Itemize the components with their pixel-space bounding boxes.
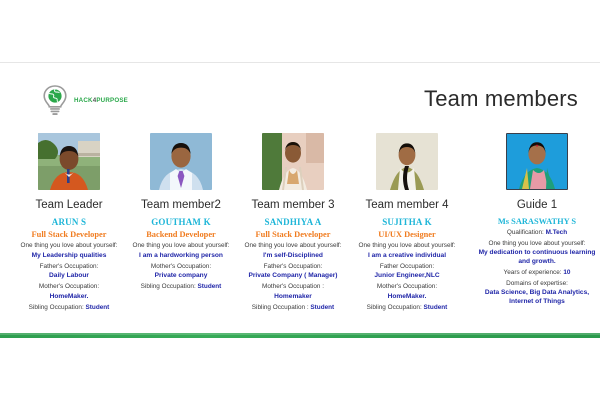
lightbulb-globe-icon: [40, 84, 70, 116]
brand-word-last: PURPOSE: [96, 97, 128, 104]
page-title: Team members: [424, 86, 578, 112]
detail-value: Data Science, Big Data Analytics, Intern…: [476, 289, 598, 307]
detail-value: M.Tech: [546, 229, 568, 236]
detail-label: Qualification:: [507, 229, 544, 236]
member-info: Ms SARASWATHY S Qualification: M.Tech On…: [476, 216, 598, 307]
detail-label: Mother's Occupation:: [359, 283, 456, 292]
detail-row: Sibling Occupation: Student: [21, 304, 118, 313]
member-answer: I am a hardworking person: [133, 252, 230, 261]
brand-wordmark: HACK4PURPOSE: [74, 97, 128, 104]
member-answer: I'm self-Disciplined: [245, 252, 342, 261]
detail-label: Mother's Occupation:: [133, 263, 230, 272]
detail-value: Private Company ( Manager): [245, 272, 342, 281]
detail-value: Private company: [133, 272, 230, 281]
member-name: Ms SARASWATHY S: [476, 216, 598, 227]
member-role: Backend Developer: [133, 229, 230, 240]
member-role: Full Stack Developer: [21, 229, 118, 240]
avatar: [506, 133, 568, 190]
member-name: SANDHIYA A: [245, 216, 342, 228]
member-answer: My dedication to continuous learning and…: [476, 249, 598, 267]
member-question: One thing you love about yourself:: [245, 242, 342, 251]
member-role-heading: Team member2: [141, 199, 221, 211]
detail-label: Sibling Occupation :: [252, 304, 309, 311]
detail-label: Mother's Occupation:: [21, 283, 118, 292]
detail-label: Father's Occupation:: [245, 263, 342, 272]
member-answer: I am a creative individual: [359, 252, 456, 261]
member-column-team-member-3: Team member 3 SANDHIYA A Full Stack Deve…: [240, 133, 346, 312]
member-name: ARUN S: [21, 216, 118, 228]
member-name: GOUTHAM K: [133, 216, 230, 228]
member-question: One thing you love about yourself:: [21, 242, 118, 251]
detail-label: Sibling Occupation:: [367, 304, 422, 311]
brand-word-first: HACK: [74, 97, 93, 104]
detail-row: Years of experience: 10: [476, 269, 598, 278]
member-column-team-member-2: Team member2 GOUTHAM K Backend Developer…: [128, 133, 234, 312]
brand-logo: HACK4PURPOSE: [40, 84, 128, 116]
member-question: One thing you love about yourself:: [476, 240, 598, 249]
member-role: Full Stack Developer: [245, 229, 342, 240]
detail-row: Sibling Occupation: Student: [359, 304, 456, 313]
slide-body: HACK4PURPOSE Team members: [0, 63, 600, 338]
detail-row: Sibling Occupation : Student: [245, 304, 342, 313]
member-info: GOUTHAM K Backend Developer One thing yo…: [133, 216, 230, 292]
detail-value: Homemaker: [245, 293, 342, 302]
detail-value: Student: [310, 304, 334, 311]
member-question: One thing you love about yourself:: [133, 242, 230, 251]
bottom-accent-bar-highlight: [0, 333, 600, 335]
team-members-row: Team Leader ARUN S Full Stack Developer …: [0, 133, 600, 312]
member-question: One thing you love about yourself:: [359, 242, 456, 251]
detail-value: Student: [198, 283, 222, 290]
member-role: UI/UX Designer: [359, 229, 456, 240]
avatar: [38, 133, 100, 190]
detail-label: Sibling Occupation:: [29, 304, 84, 311]
member-info: SUJITHA K UI/UX Designer One thing you l…: [359, 216, 456, 312]
member-role-heading: Team member 3: [251, 199, 334, 211]
member-column-team-member-4: Team member 4 SUJITHA K UI/UX Designer O…: [354, 133, 460, 312]
member-info: SANDHIYA A Full Stack Developer One thin…: [245, 216, 342, 312]
member-column-guide-1: Guide 1 Ms SARASWATHY S Qualification: M…: [476, 133, 598, 312]
member-name: SUJITHA K: [359, 216, 456, 228]
avatar: [150, 133, 212, 190]
detail-value: Student: [424, 304, 448, 311]
detail-label: Mother's Occupation :: [245, 283, 342, 292]
detail-row: Sibling Occupation: Student: [133, 283, 230, 292]
detail-label: Father's Occupation:: [21, 263, 118, 272]
member-info: ARUN S Full Stack Developer One thing yo…: [21, 216, 118, 312]
detail-row: Qualification: M.Tech: [476, 229, 598, 238]
detail-value: Junior Engineer,NLC: [359, 272, 456, 281]
member-answer: My Leadership qualities: [21, 252, 118, 261]
detail-label: Father Occupation:: [359, 263, 456, 272]
detail-value: Student: [86, 304, 110, 311]
detail-label: Sibling Occupation:: [141, 283, 196, 290]
detail-value: Daily Labour: [21, 272, 118, 281]
detail-value: HomeMaker.: [21, 293, 118, 302]
member-role-heading: Team Leader: [35, 199, 102, 211]
avatar: [262, 133, 324, 190]
detail-label: Years of experience:: [504, 269, 562, 276]
detail-label: Domains of expertise:: [476, 280, 598, 289]
detail-value: 10: [563, 269, 570, 276]
member-role-heading: Guide 1: [517, 199, 557, 211]
detail-value: HomeMaker.: [359, 293, 456, 302]
member-column-team-leader: Team Leader ARUN S Full Stack Developer …: [16, 133, 122, 312]
slide-canvas: HACK4PURPOSE Team members: [0, 0, 600, 400]
avatar: [376, 133, 438, 190]
member-role-heading: Team member 4: [365, 199, 448, 211]
